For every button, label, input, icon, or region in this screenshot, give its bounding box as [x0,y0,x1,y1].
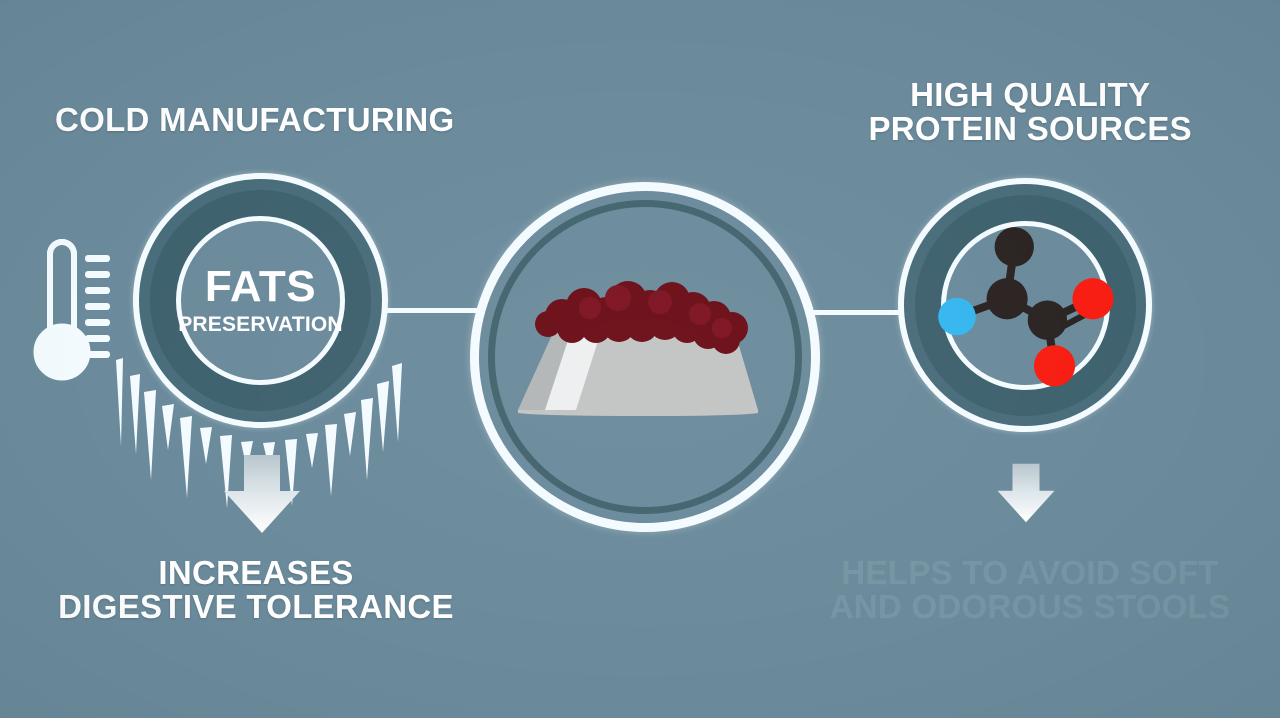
kibble-with-fresh-meat-illustration [500,270,790,450]
amino-acid-molecule-icon [925,220,1125,390]
infographic-canvas: COLD MANUFACTURING HIGH QUALITY PROTEIN … [0,0,1280,718]
down-arrow-icon-right [996,462,1056,524]
connector-line-right [800,310,912,315]
atom-carbon [987,278,1028,319]
circle-left-inner-ring [176,216,345,385]
atom-nitrogen [938,298,976,336]
atom-oxygen [1072,278,1113,319]
connector-line-left [380,308,490,313]
circle-fats-preservation: FATS PRESERVATION [133,173,388,428]
atom-oxygen [1034,345,1075,386]
atom-carbon [1028,301,1067,340]
page-title-high-quality-protein: HIGH QUALITY PROTEIN SOURCES [868,78,1192,147]
atom-carbon [995,227,1034,266]
thermometer-icon [28,238,118,390]
caption-increases-digestive-tolerance: INCREASES DIGESTIVE TOLERANCE [0,556,512,625]
caption-helps-avoid-soft-stools: HELPS TO AVOID SOFT AND ODOROUS STOOLS [790,556,1270,625]
down-arrow-icon-left [222,453,302,535]
page-title-cold-manufacturing: COLD MANUFACTURING [55,103,455,137]
molecule-atoms [938,227,1113,386]
